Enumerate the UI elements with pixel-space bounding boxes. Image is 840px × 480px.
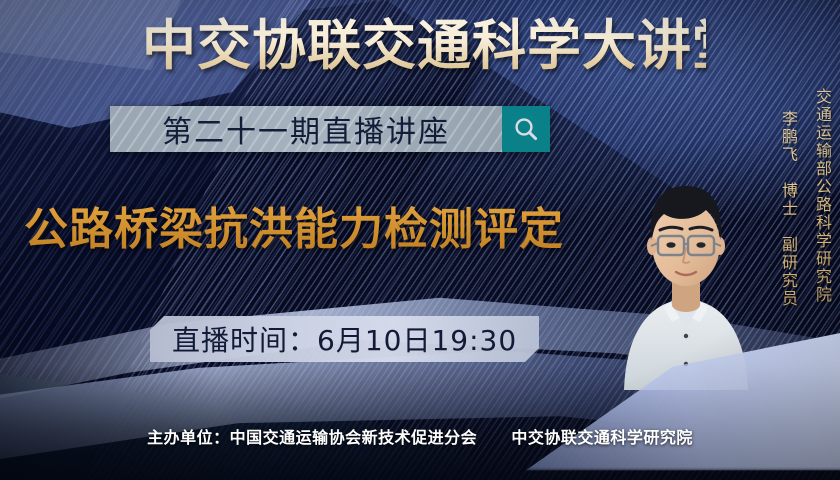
broadcast-time-label: 直播时间：6月10日19:30 — [172, 319, 517, 359]
search-icon[interactable] — [502, 106, 550, 152]
footer: 主办单位：中国交通运输协会新技术促进分会 中交协联交通科学研究院 — [0, 424, 840, 448]
lecture-topic: 公路桥梁抗洪能力检测评定 — [24, 202, 564, 258]
poster-canvas: 中交协联交通科学大讲堂 第二十一期直播讲座 公路桥梁抗洪能力检测评定 直播时间：… — [0, 0, 840, 480]
speaker-portrait — [618, 140, 754, 390]
speaker-name-title: 李鹏飞 博士 副研究员 — [778, 110, 798, 320]
speaker-organization: 交通运输部公路科学研究院 — [812, 88, 832, 318]
footer-organizer: 主办单位：中国交通运输协会新技术促进分会 — [147, 428, 477, 447]
page-title: 中交协联交通科学大讲堂 — [142, 16, 706, 76]
session-banner-body: 第二十一期直播讲座 — [110, 106, 502, 152]
footer-co-organizer: 中交协联交通科学研究院 — [511, 428, 693, 447]
session-banner: 第二十一期直播讲座 — [110, 106, 550, 152]
session-label: 第二十一期直播讲座 — [162, 107, 450, 151]
broadcast-time-chip: 直播时间：6月10日19:30 — [150, 316, 539, 362]
